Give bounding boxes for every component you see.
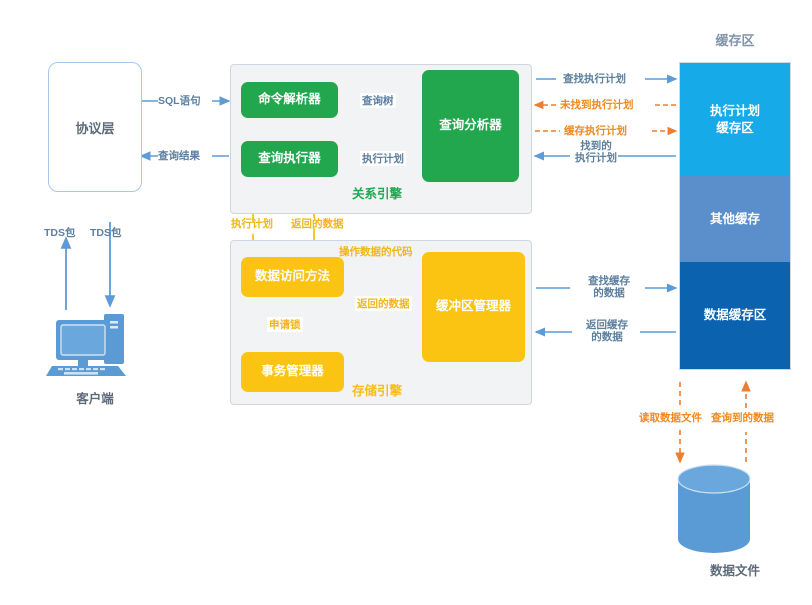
label-operate-data-code: 操作数据的代码 (339, 244, 413, 259)
label-execution-plan-found: 找到的 执行计划 (574, 140, 618, 164)
label-query-result: 查询结果 (158, 148, 200, 163)
data-file-label: 数据文件 (672, 560, 798, 579)
command-parser-label: 命令解析器 (258, 92, 321, 108)
label-execution-plan-found-line1: 找到的 (574, 140, 618, 152)
label-returned-data-up: 返回的数据 (291, 216, 344, 231)
other-cache-cell[interactable]: 其他缓存 (680, 176, 790, 262)
buffer-manager-node[interactable]: 缓冲区管理器 (422, 252, 525, 362)
client-label: 客户端 (30, 388, 160, 407)
label-execution-plan-down: 执行计划 (231, 216, 273, 231)
label-find-cached-data: 查找缓存 的数据 (572, 275, 646, 299)
execution-plan-cache-label-line1: 执行计划 (710, 103, 760, 119)
cache-stack: 执行计划 缓存区 其他缓存 数据缓存区 (679, 62, 791, 370)
label-find-execution-plan: 查找执行计划 (561, 71, 628, 86)
query-analyzer-node[interactable]: 查询分析器 (422, 70, 519, 182)
data-cache-label: 数据缓存区 (704, 307, 767, 323)
storage-engine-label: 存储引擎 (352, 380, 402, 399)
command-parser-node[interactable]: 命令解析器 (241, 82, 338, 118)
label-returned-data-buffer: 返回的数据 (355, 296, 412, 311)
protocol-layer-label: 协议层 (75, 118, 114, 137)
label-execution-plan-internal: 执行计划 (360, 151, 406, 166)
label-read-data-file: 读取数据文件 (639, 410, 702, 425)
data-access-method-label: 数据访问方法 (255, 269, 330, 285)
label-queried-data: 查询到的数据 (711, 410, 774, 425)
label-sql-statement: SQL语句 (158, 93, 201, 108)
label-find-cached-data-line2: 的数据 (572, 287, 646, 299)
desktop-computer-icon (46, 312, 146, 382)
label-execution-plan-not-found: 未找到执行计划 (560, 97, 634, 112)
label-find-cached-data-line1: 查找缓存 (572, 275, 646, 287)
label-return-cached-data: 返回缓存 的数据 (572, 319, 642, 343)
label-tds-packet-down: TDS包 (90, 225, 122, 240)
query-executor-node[interactable]: 查询执行器 (241, 141, 338, 177)
database-cylinder-icon[interactable] (672, 463, 756, 560)
cache-region-title: 缓存区 (672, 30, 798, 49)
execution-plan-cache-cell[interactable]: 执行计划 缓存区 (680, 63, 790, 176)
buffer-manager-label: 缓冲区管理器 (436, 299, 511, 315)
other-cache-label: 其他缓存 (710, 211, 760, 227)
execution-plan-cache-label-line2: 缓存区 (710, 120, 760, 136)
label-request-lock: 申请锁 (267, 317, 303, 332)
label-return-cached-data-line1: 返回缓存 (572, 319, 642, 331)
transaction-manager-node[interactable]: 事务管理器 (241, 352, 344, 392)
relational-engine-label: 关系引擎 (352, 183, 402, 202)
label-cache-execution-plan: 缓存执行计划 (564, 123, 627, 138)
label-tds-packet-up: TDS包 (44, 225, 76, 240)
protocol-layer-box[interactable]: 协议层 (48, 62, 142, 192)
query-executor-label: 查询执行器 (258, 151, 321, 167)
query-analyzer-label: 查询分析器 (439, 118, 502, 134)
data-cache-cell[interactable]: 数据缓存区 (680, 262, 790, 369)
label-return-cached-data-line2: 的数据 (572, 331, 642, 343)
label-execution-plan-found-line2: 执行计划 (574, 152, 618, 164)
data-access-method-node[interactable]: 数据访问方法 (241, 257, 344, 297)
label-query-tree: 查询树 (360, 93, 396, 108)
transaction-manager-label: 事务管理器 (261, 364, 324, 380)
